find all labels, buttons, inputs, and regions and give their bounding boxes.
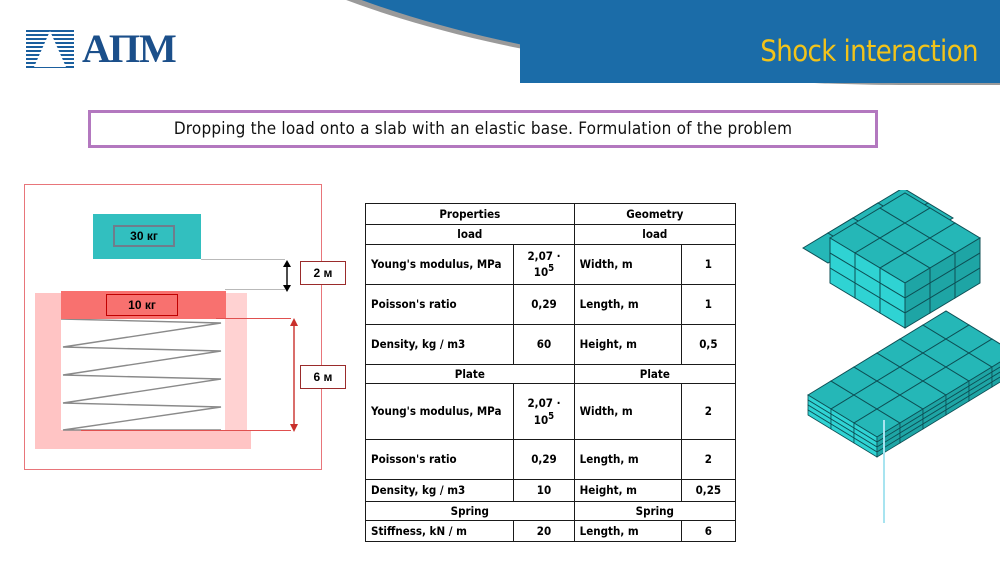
young-modulus-base: 10	[534, 265, 548, 279]
logo-mark-icon	[24, 26, 76, 72]
logo-text: АПМ	[82, 29, 176, 69]
leader-line-spring-top	[216, 318, 291, 319]
cell-value: 0,29	[514, 284, 574, 324]
section-label-plate-left: Plate	[366, 364, 575, 383]
cell-value: 0,29	[514, 440, 574, 480]
cell-geometry: Height, m	[574, 324, 681, 364]
table-row: Poisson's ratio 0,29 Length, m 1	[366, 284, 736, 324]
leader-line-mid	[225, 289, 285, 290]
table-section-row: load load	[366, 225, 736, 244]
dimension-label-gap: 2 м	[300, 261, 346, 285]
cell-geometry: Length, m	[574, 284, 681, 324]
young-modulus-exponent: 5	[548, 263, 554, 274]
cell-geometry: Width, m	[574, 384, 681, 440]
table-row: Poisson's ratio 0,29 Length, m 2	[366, 440, 736, 480]
cell-geometry-value: 1	[681, 284, 735, 324]
subtitle-text: Dropping the load onto a slab with an el…	[174, 119, 792, 139]
subtitle-banner: Dropping the load onto a slab with an el…	[88, 110, 878, 148]
schematic-diagram: 10 кг 30 кг 2 м 6 м	[24, 184, 322, 470]
spring-line	[883, 420, 885, 523]
fem-mesh-models	[790, 190, 1000, 530]
table-row: Density, kg / m3 10 Height, m 0,25	[366, 480, 736, 501]
leader-line-top	[201, 259, 285, 260]
cell-geometry-value: 2	[681, 384, 735, 440]
cell-geometry-value: 2	[681, 440, 735, 480]
properties-geometry-table: Properties Geometry load load Young's mo…	[365, 203, 736, 542]
cell-property: Density, kg / m3	[366, 324, 514, 364]
dimension-arrow-gap-icon	[280, 260, 294, 292]
cell-geometry-value: 6	[681, 520, 735, 541]
elastic-base-wall-left	[35, 293, 61, 449]
table-row: Stiffness, kN / m 20 Length, m 6	[366, 520, 736, 541]
cell-value: 2,07 · 105	[514, 244, 574, 284]
young-modulus-mantissa: 2,07 ·	[527, 396, 560, 410]
cell-property: Poisson's ratio	[366, 440, 514, 480]
cell-property: Poisson's ratio	[366, 284, 514, 324]
table-header-row: Properties Geometry	[366, 204, 736, 225]
cell-property: Young's modulus, MPa	[366, 244, 514, 284]
leader-line-spring-bottom	[81, 430, 291, 431]
mass-block-lower-label: 10 кг	[106, 294, 178, 316]
section-label-spring-right: Spring	[574, 501, 735, 520]
table-header-geometry: Geometry	[574, 204, 735, 225]
mass-block-upper-label: 30 кг	[113, 225, 175, 247]
dimension-label-spring: 6 м	[300, 365, 346, 389]
section-label-load-right: load	[574, 225, 735, 244]
table-section-row: Spring Spring	[366, 501, 736, 520]
young-modulus-exponent: 5	[548, 411, 554, 422]
young-modulus-base: 10	[534, 413, 548, 427]
cell-geometry-value: 1	[681, 244, 735, 284]
cell-geometry: Length, m	[574, 520, 681, 541]
cell-value: 2,07 · 105	[514, 384, 574, 440]
cell-property: Stiffness, kN / m	[366, 520, 514, 541]
cell-geometry: Width, m	[574, 244, 681, 284]
cell-geometry: Height, m	[574, 480, 681, 501]
cell-value: 60	[514, 324, 574, 364]
table-row: Young's modulus, MPa 2,07 · 105 Width, m…	[366, 244, 736, 284]
table-row: Density, kg / m3 60 Height, m 0,5	[366, 324, 736, 364]
mesh-models-svg	[790, 190, 1000, 530]
apm-logo: АПМ	[24, 26, 176, 72]
load-mesh-cube	[803, 190, 980, 328]
elastic-base-wall-right	[225, 293, 247, 430]
table-header-properties: Properties	[366, 204, 575, 225]
cell-value: 10	[514, 480, 574, 501]
table-section-row: Plate Plate	[366, 364, 736, 383]
section-label-load-left: load	[366, 225, 575, 244]
cell-value: 20	[514, 520, 574, 541]
section-label-spring-left: Spring	[366, 501, 575, 520]
cell-geometry: Length, m	[574, 440, 681, 480]
young-modulus-mantissa: 2,07 ·	[527, 249, 560, 263]
cell-geometry-value: 0,5	[681, 324, 735, 364]
spring-zigzag-icon	[61, 317, 227, 433]
slide-title: Shock interaction	[760, 34, 978, 68]
cell-property: Density, kg / m3	[366, 480, 514, 501]
cell-property: Young's modulus, MPa	[366, 384, 514, 440]
dimension-arrow-spring-icon	[287, 318, 301, 432]
plate-mesh-slab	[808, 311, 1000, 457]
cell-geometry-value: 0,25	[681, 480, 735, 501]
section-label-plate-right: Plate	[574, 364, 735, 383]
table-row: Young's modulus, MPa 2,07 · 105 Width, m…	[366, 384, 736, 440]
